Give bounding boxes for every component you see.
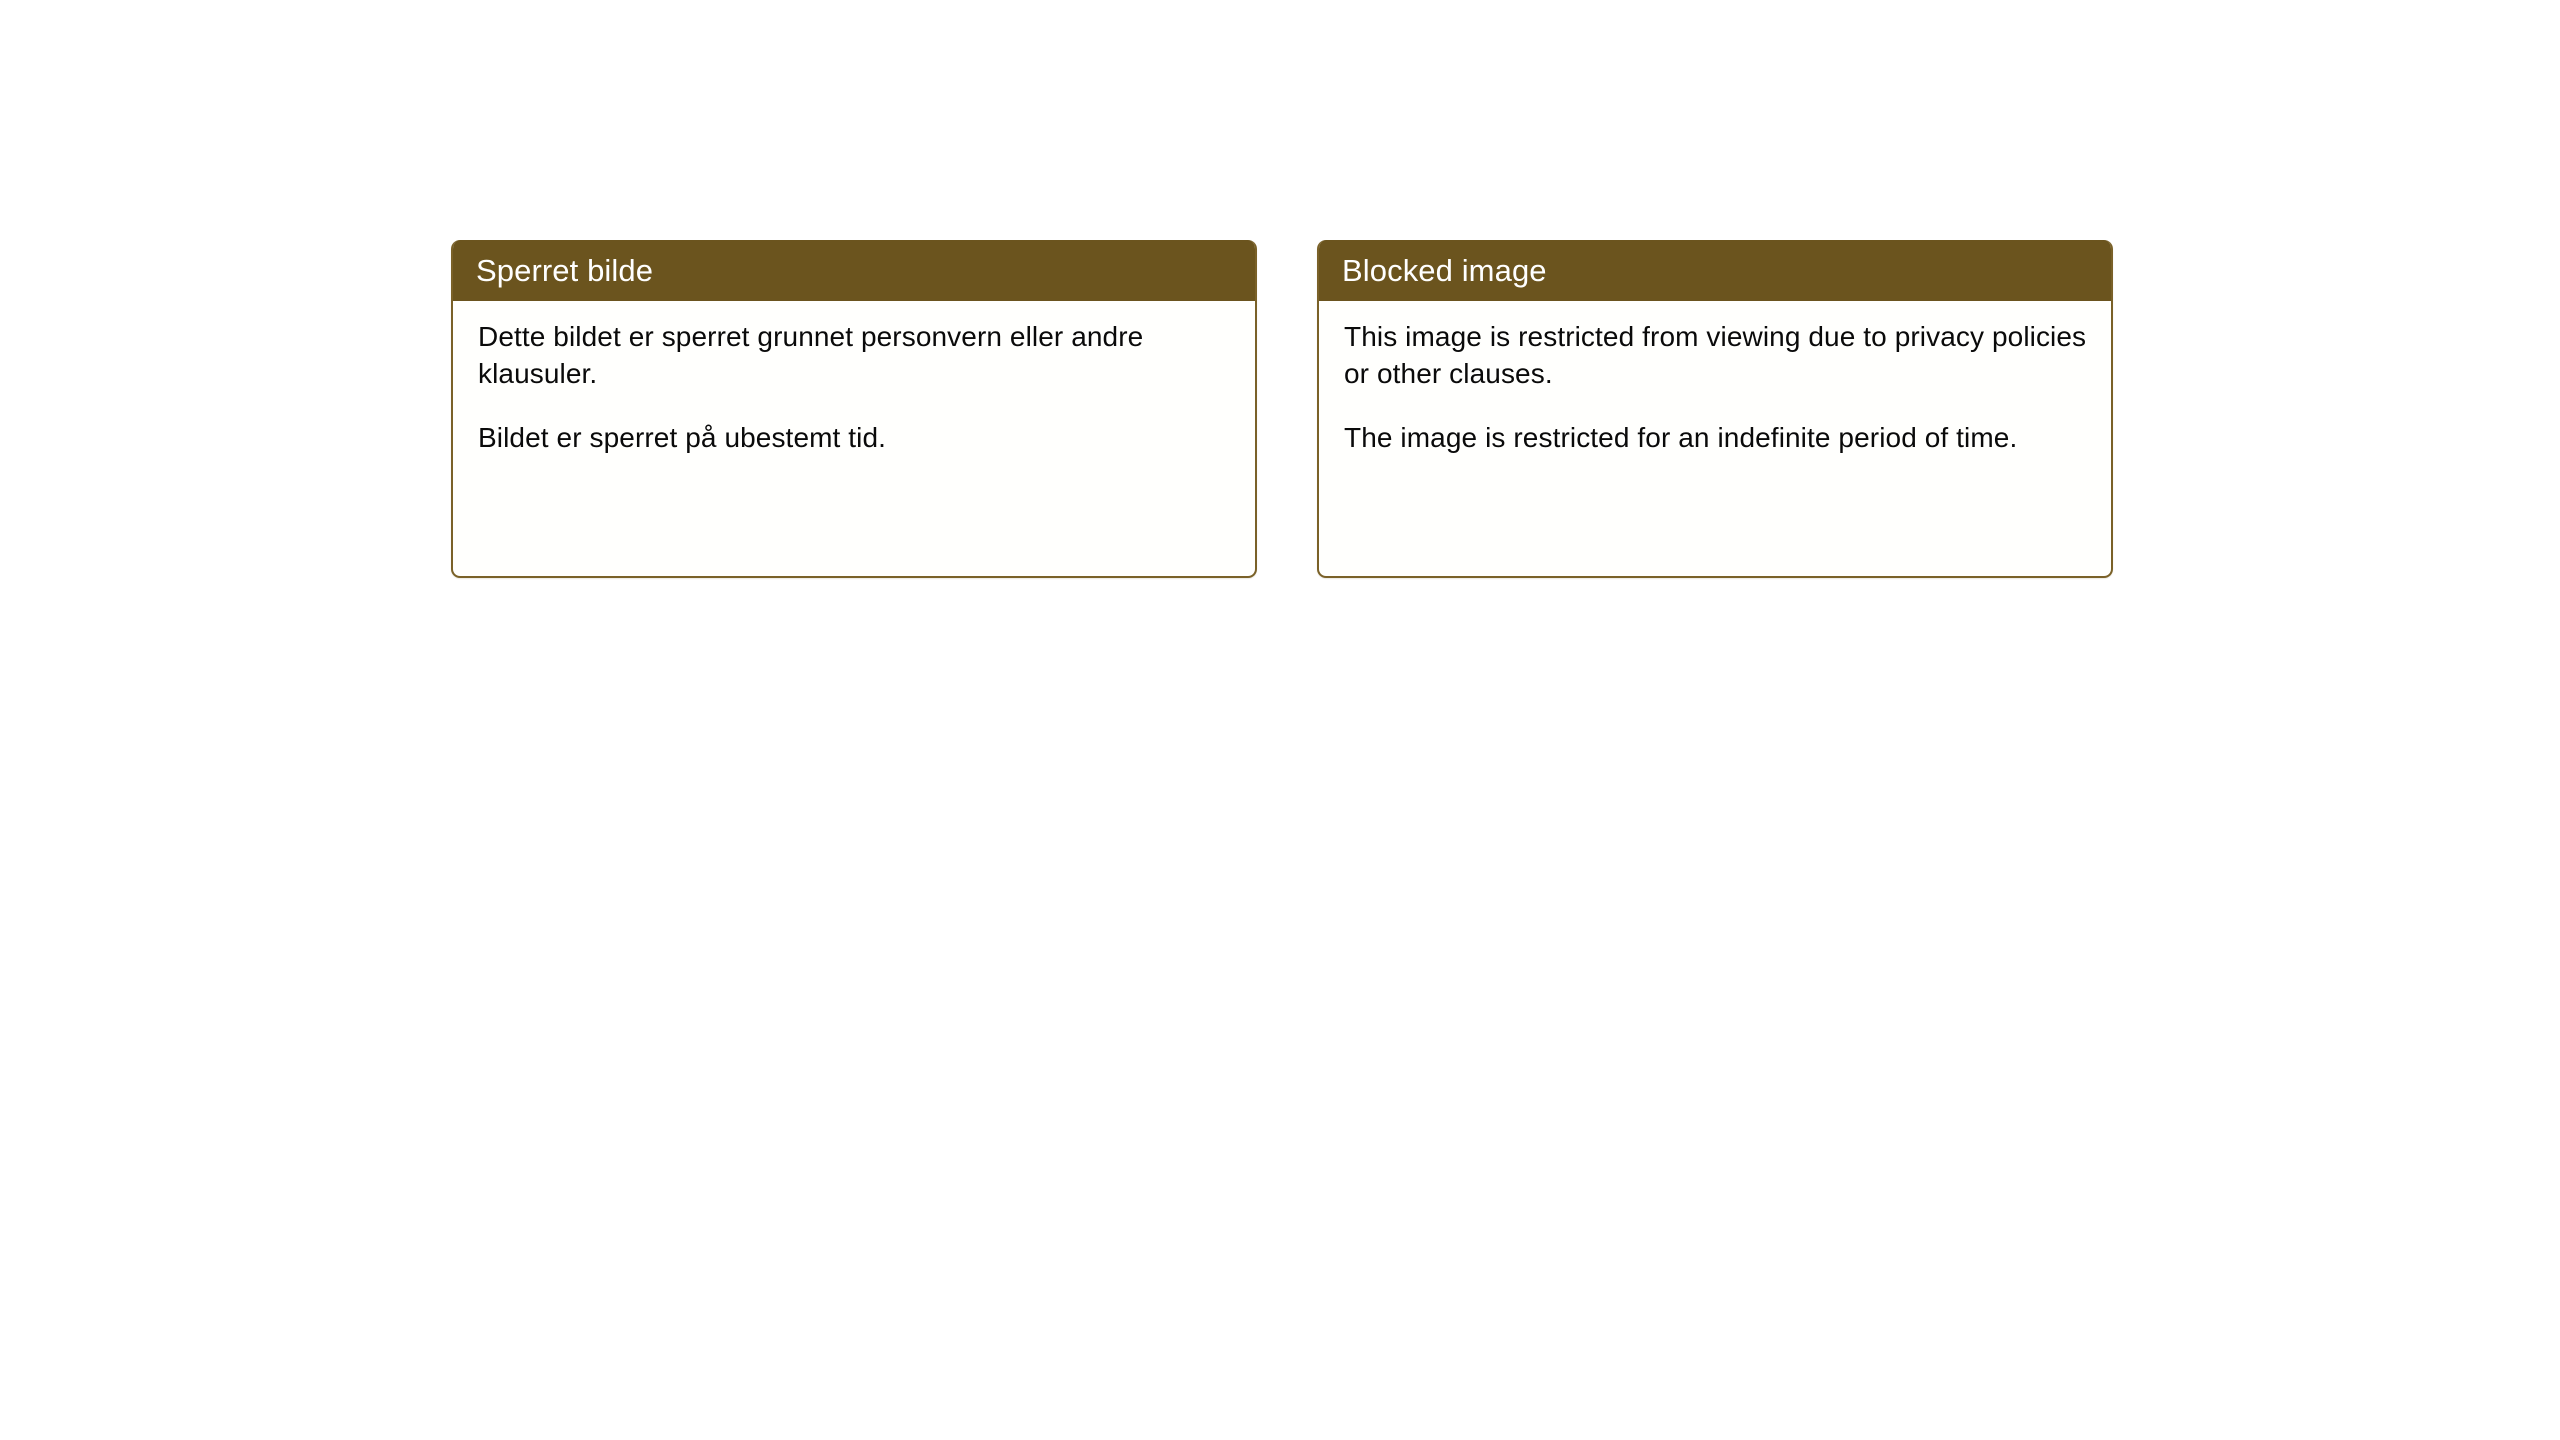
notice-card-body: This image is restricted from viewing du… [1319, 301, 2111, 457]
notice-card-paragraph: Bildet er sperret på ubestemt tid. [478, 420, 1233, 457]
notice-card-paragraph: This image is restricted from viewing du… [1344, 319, 2089, 393]
notice-card-header: Sperret bilde [451, 240, 1257, 301]
notice-card-title: Sperret bilde [476, 255, 653, 286]
notice-card-body: Dette bildet er sperret grunnet personve… [453, 301, 1255, 457]
notice-card-header: Blocked image [1317, 240, 2113, 301]
notice-card-title: Blocked image [1342, 255, 1547, 286]
notice-card-paragraph: The image is restricted for an indefinit… [1344, 420, 2089, 457]
blocked-image-notice-card-no: Sperret bilde Dette bildet er sperret gr… [451, 240, 1257, 578]
blocked-image-notice-card-en: Blocked image This image is restricted f… [1317, 240, 2113, 578]
notice-card-paragraph: Dette bildet er sperret grunnet personve… [478, 319, 1233, 393]
blocked-image-notice-stage: Sperret bilde Dette bildet er sperret gr… [0, 0, 2560, 1440]
